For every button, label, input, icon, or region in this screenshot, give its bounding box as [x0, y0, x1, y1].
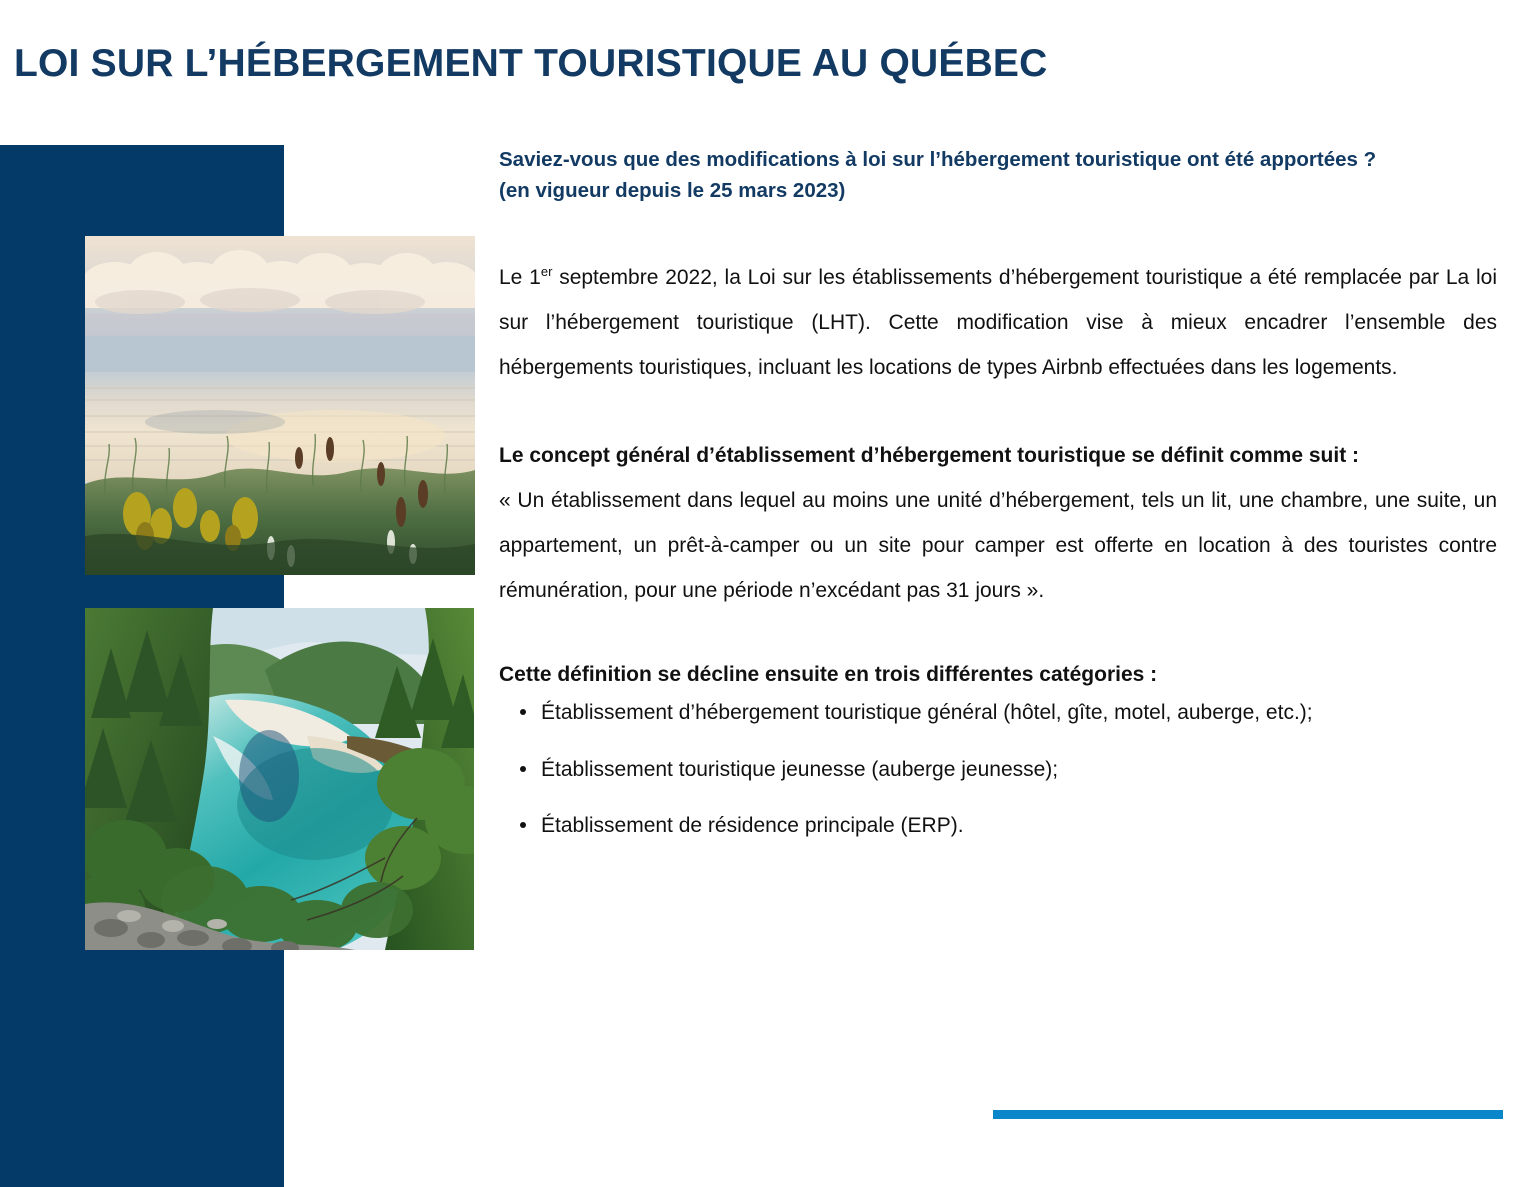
- spacer: [499, 613, 1497, 653]
- definition-quote: « Un établissement dans lequel au moins …: [499, 479, 1497, 613]
- paragraph-intro: Le 1er septembre 2022, la Loi sur les ét…: [499, 256, 1497, 390]
- list-item: Établissement d’hébergement touristique …: [499, 698, 1497, 728]
- paragraph-intro-part2: septembre 2022, la Loi sur les établisse…: [499, 266, 1497, 378]
- page-title: LOI SUR L’HÉBERGEMENT TOURISTIQUE AU QUÉ…: [14, 44, 1474, 85]
- paragraph-intro-part1: Le 1: [499, 266, 541, 289]
- subtitle-line-1: Saviez-vous que des modifications à loi …: [499, 144, 1497, 175]
- footer-accent-bar: [993, 1110, 1503, 1119]
- heading-categories: Cette définition se décline ensuite en t…: [499, 653, 1497, 698]
- spacer: [499, 390, 1497, 434]
- list-item-label: Établissement de résidence principale (E…: [541, 814, 964, 837]
- river-illustration: [85, 608, 474, 950]
- heading-definition: Le concept général d’établissement d’héb…: [499, 434, 1497, 479]
- photo-seashore: [85, 236, 475, 575]
- list-item-label: Établissement d’hébergement touristique …: [541, 701, 1313, 724]
- bullet-dot-icon: [520, 709, 526, 715]
- seashore-illustration: [85, 236, 475, 575]
- list-item-label: Établissement touristique jeunesse (aube…: [541, 758, 1058, 781]
- list-item: Établissement touristique jeunesse (aube…: [499, 755, 1497, 785]
- photo-river: [85, 608, 474, 950]
- bullet-dot-icon: [520, 766, 526, 772]
- slide-root: LOI SUR L’HÉBERGEMENT TOURISTIQUE AU QUÉ…: [0, 0, 1536, 1187]
- content-column: Saviez-vous que des modifications à loi …: [499, 144, 1497, 841]
- subtitle-block: Saviez-vous que des modifications à loi …: [499, 144, 1497, 206]
- subtitle-line-2: (en vigueur depuis le 25 mars 2023): [499, 175, 1497, 206]
- body-block: Le 1er septembre 2022, la Loi sur les ét…: [499, 256, 1497, 841]
- list-item: Établissement de résidence principale (E…: [499, 811, 1497, 841]
- bullet-dot-icon: [520, 822, 526, 828]
- categories-list: Établissement d’hébergement touristique …: [499, 698, 1497, 841]
- ordinal-superscript: er: [541, 264, 553, 279]
